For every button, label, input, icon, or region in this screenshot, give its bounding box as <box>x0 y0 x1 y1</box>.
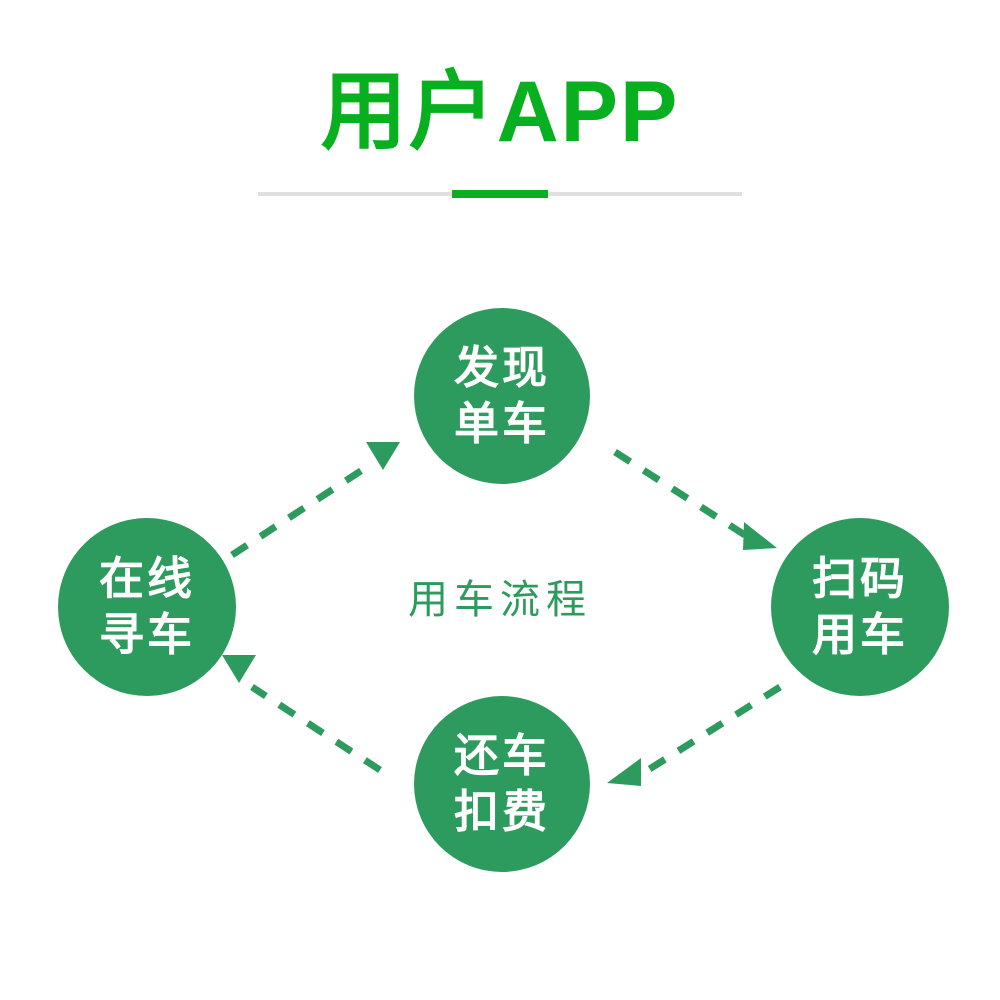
flow-node-find-online-line2: 寻车 <box>99 607 195 663</box>
flow-node-find-online-line1: 在线 <box>99 551 195 607</box>
title-divider-accent <box>452 190 548 198</box>
flow-node-return-pay[interactable]: 还车 扣费 <box>414 696 590 872</box>
flow-node-scan-to-ride-line2: 用车 <box>812 607 908 663</box>
flow-diagram: 发现 单车 在线 寻车 扫码 用车 还车 扣费 用车流程 <box>0 230 1000 1000</box>
flow-node-find-online[interactable]: 在线 寻车 <box>58 518 236 696</box>
flow-node-discover-bike-line2: 单车 <box>454 396 550 452</box>
arrow-discover-bike-to-scan <box>615 452 777 550</box>
flow-node-scan-to-ride-line1: 扫码 <box>812 551 908 607</box>
flow-node-return-pay-line1: 还车 <box>454 728 550 784</box>
flow-node-discover-bike[interactable]: 发现 单车 <box>414 308 590 484</box>
arrow-return-pay-to-find-online <box>222 655 380 770</box>
flow-center-label: 用车流程 <box>350 575 650 625</box>
flow-node-return-pay-line2: 扣费 <box>454 784 550 840</box>
flow-node-discover-bike-line1: 发现 <box>454 340 550 396</box>
flow-node-scan-to-ride[interactable]: 扫码 用车 <box>771 518 949 696</box>
arrow-find-online-to-discover-bike <box>232 442 400 555</box>
page-header: 用户APP <box>0 0 1000 230</box>
poster-canvas: 用户APP <box>0 0 1000 1000</box>
page-title: 用户APP <box>0 62 1000 162</box>
arrow-scan-to-return-pay <box>607 687 780 786</box>
